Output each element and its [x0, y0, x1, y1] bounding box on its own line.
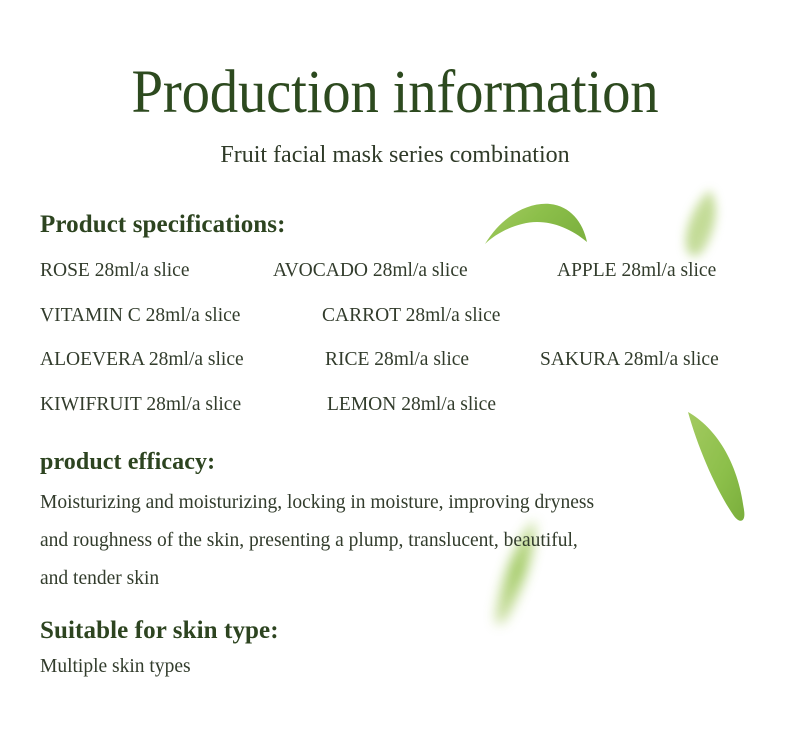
page-subtitle: Fruit facial mask series combination	[0, 143, 790, 167]
product-information-page: Production information Fruit facial mask…	[0, 0, 790, 738]
efficacy-heading: product efficacy:	[40, 450, 215, 474]
spec-item: SAKURA 28ml/a slice	[540, 348, 719, 372]
spec-item: APPLE 28ml/a slice	[557, 259, 716, 283]
spec-item: AVOCADO 28ml/a slice	[273, 259, 468, 283]
spec-item: VITAMIN C 28ml/a slice	[40, 304, 240, 328]
spec-item: ROSE 28ml/a slice	[40, 259, 190, 283]
spec-row: ALOEVERA 28ml/a slice RICE 28ml/a slice …	[40, 348, 770, 372]
spec-item: LEMON 28ml/a slice	[327, 393, 496, 417]
specifications-heading: Product specifications:	[40, 212, 286, 237]
efficacy-line: Moisturizing and moisturizing, locking i…	[40, 484, 752, 522]
efficacy-line: and tender skin	[40, 560, 752, 598]
spec-row: VITAMIN C 28ml/a slice CARROT 28ml/a sli…	[40, 304, 770, 328]
efficacy-paragraph: Moisturizing and moisturizing, locking i…	[40, 484, 752, 598]
spec-item: KIWIFRUIT 28ml/a slice	[40, 393, 241, 417]
spec-item: ALOEVERA 28ml/a slice	[40, 348, 244, 372]
skin-type-heading: Suitable for skin type:	[40, 618, 279, 643]
spec-row: KIWIFRUIT 28ml/a slice LEMON 28ml/a slic…	[40, 393, 770, 417]
spec-item: CARROT 28ml/a slice	[322, 304, 500, 328]
spec-item: RICE 28ml/a slice	[325, 348, 469, 372]
efficacy-line: and roughness of the skin, presenting a …	[40, 522, 752, 560]
spec-row: ROSE 28ml/a slice AVOCADO 28ml/a slice A…	[40, 259, 770, 283]
skin-type-value: Multiple skin types	[40, 655, 191, 679]
page-title: Production information	[28, 62, 763, 123]
